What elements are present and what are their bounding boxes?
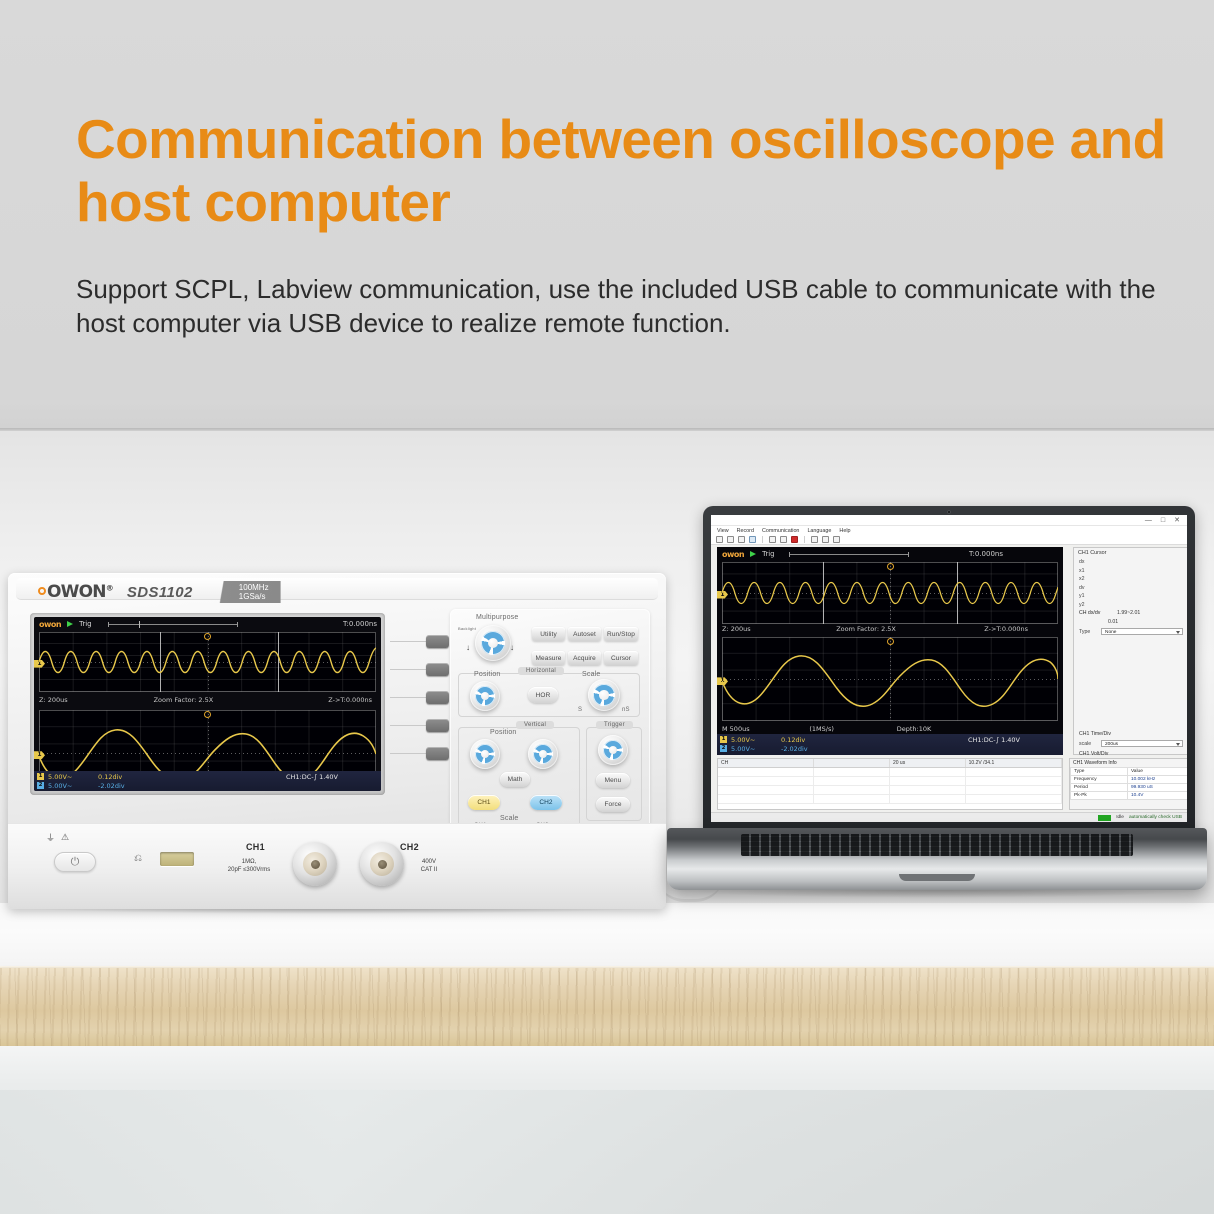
sw-status-row: M 500us (1MS/s) Depth:10K	[722, 723, 1058, 734]
sw-zoom-waveform-pane: 1	[722, 637, 1058, 721]
cursor-type-row: Type None	[1074, 626, 1187, 637]
hor-button[interactable]: HOR	[528, 687, 558, 703]
knob-inner	[475, 744, 495, 764]
sw-trigger-state: Trig	[762, 550, 775, 558]
sw-ch1-volts: 5.00V~	[731, 736, 777, 744]
wi-pkpk-value: 10.4V	[1127, 792, 1187, 800]
table-icon[interactable]	[822, 536, 829, 543]
softkey-2[interactable]	[426, 663, 449, 676]
usb-check-label: automatically check USB	[1129, 815, 1182, 820]
cursor-dxdv-label: CH dx/dv	[1079, 610, 1113, 616]
oscilloscope-front-connectors: ⏚ ⚠ ⏻ ⎌ CH1 1MΩ, 20pF ≤300Vrms CH2 400V …	[8, 823, 666, 909]
cursor-field-y2: y2	[1074, 601, 1187, 610]
measurement-col-4: 10.2V /34.1	[966, 759, 1062, 767]
connect-icon[interactable]	[749, 536, 756, 543]
play-icon[interactable]	[780, 536, 787, 543]
sw-ch1-waveform-fast	[722, 562, 1058, 624]
sw-main-waveform-pane: 1	[722, 562, 1058, 624]
horizontal-scale-label: Scale	[582, 671, 601, 678]
sw-zoom-offset: Z->T:0.000ns	[950, 625, 1058, 633]
ch2-vertical-position-knob[interactable]	[528, 739, 558, 769]
measurement-table-header: CH 20 us 10.2V /34.1	[718, 759, 1062, 768]
laptop: — □ ✕ View Record Communication Language…	[667, 506, 1207, 901]
wi-frequency-label: Frequency	[1071, 776, 1128, 784]
measurement-col-3: 20 us	[890, 759, 966, 767]
warning-triangle-icon: ⚠	[61, 832, 69, 843]
wi-col-type: Type	[1071, 768, 1128, 776]
wi-pkpk-label: Pk-Pk	[1071, 792, 1128, 800]
cursor-panel-spacer	[1074, 637, 1187, 729]
multipurpose-knob[interactable]	[475, 625, 511, 661]
cursor-key-y2: y2	[1079, 602, 1097, 608]
bnc-core	[378, 860, 387, 869]
owon-logo: owon®	[38, 582, 113, 602]
waveform-info-table: Type Value Frequency 10.002 kHz Period 9…	[1070, 767, 1187, 800]
oscilloscope-screen-bezel: owon Trig T:0.000ns 1	[30, 613, 385, 795]
sw-ch1-badge: 1	[720, 736, 727, 743]
sw-ch1-waveform-zoom	[722, 637, 1058, 721]
timediv-select[interactable]: 200us	[1101, 740, 1183, 747]
ch2-connector-label: CH2	[400, 842, 419, 852]
wi-frequency-value: 10.002 kHz	[1127, 776, 1187, 784]
oscilloscope-chassis: owon® SDS1102 100MHz 1GSa/s owon Trig T:…	[8, 573, 666, 909]
measurement-col-ch: CH	[718, 759, 814, 767]
trigger-source-info: CH1:DC-∫ 1.40V	[286, 773, 338, 781]
menu-record[interactable]: Record	[737, 528, 754, 534]
cursor-field-dx: dx	[1074, 558, 1187, 567]
cursor-button[interactable]: Cursor	[604, 651, 638, 665]
run-play-icon	[67, 621, 73, 627]
knob-inner	[603, 740, 623, 760]
autoset-button[interactable]: Autoset	[568, 627, 601, 641]
oscilloscope-screen[interactable]: owon Trig T:0.000ns 1	[34, 617, 381, 791]
cursor-field-x2: x2	[1074, 575, 1187, 584]
application-statusbar: Idle automatically check USB	[711, 812, 1187, 822]
save-icon[interactable]	[727, 536, 734, 543]
sw-trigger-info: CH1:DC-∫ 1.40V	[968, 736, 1020, 744]
softkey-4[interactable]	[426, 719, 449, 732]
zoom-factor: Zoom Factor: 2.5X	[154, 696, 269, 704]
voltage-rating: 400V	[422, 859, 436, 865]
ch2-info-line: 2 5.00V~ -2.02div	[37, 781, 378, 790]
connection-status-indicator	[1098, 815, 1111, 821]
close-button[interactable]: ✕	[1174, 517, 1180, 524]
owon-logo-registered: ®	[106, 583, 113, 592]
horizontal-position-knob[interactable]	[470, 681, 500, 711]
timediv-row: scale 200us	[1074, 738, 1187, 749]
table-row	[718, 768, 1062, 777]
run-stop-button[interactable]: Run/Stop	[604, 627, 638, 641]
ch2-bnc-connector[interactable]	[360, 842, 404, 886]
acquire-button[interactable]: Acquire	[568, 651, 601, 665]
webcam-icon	[947, 510, 951, 514]
sw-timebase-value: M 500us	[722, 725, 809, 733]
multipurpose-left-arrow-icon: ↓	[466, 643, 470, 652]
export-icon[interactable]	[833, 536, 840, 543]
ch2-volts-per-div: 5.00V~	[48, 782, 94, 790]
desk-wood-edge	[0, 968, 1214, 1046]
scale-unit-ns: nS	[622, 707, 630, 713]
cursor-type-select[interactable]: None	[1101, 628, 1183, 635]
ch1-button[interactable]: CH1	[468, 795, 500, 810]
sw-ch2-div: -2.02div	[781, 745, 833, 753]
bnc-core	[311, 860, 320, 869]
cursor-field-x1: x1	[1074, 567, 1187, 576]
force-trigger-button[interactable]: Force	[596, 797, 630, 812]
voltdiv-panel-title: CH1 Volt/Div	[1074, 749, 1187, 758]
knob-inner	[475, 686, 495, 706]
ch1-badge: 1	[37, 773, 44, 780]
laptop-keyboard[interactable]	[741, 834, 1133, 856]
wi-period-value: 99.930 uS	[1127, 784, 1187, 792]
sw-ch2-info-line: 2 5.00V~ -2.02div	[720, 744, 1060, 753]
zoom-offset: Z->T:0.000ns	[268, 696, 376, 704]
cursor-key-y1: y1	[1079, 593, 1097, 599]
softkey-1[interactable]	[426, 635, 449, 648]
cursor-dxdv-value2: 0.01	[1108, 619, 1183, 625]
sw-zoom-timebase: Z: 200us	[722, 625, 836, 633]
owon-logo-text: owon	[47, 582, 106, 602]
sw-depth-value: Depth:10K	[897, 725, 1058, 733]
zoom-timebase: Z: 200us	[39, 696, 154, 704]
horizontal-scale-knob[interactable]	[588, 679, 620, 711]
vertical-position-label: Position	[490, 729, 517, 736]
idle-state-label: Idle	[1116, 815, 1124, 820]
maximize-button[interactable]: □	[1161, 517, 1165, 524]
ch2-badge: 2	[37, 782, 44, 789]
application-menubar: View Record Communication Language Help	[711, 526, 1187, 535]
wall-seam	[0, 428, 1214, 431]
softkey-5[interactable]	[426, 747, 449, 760]
softkey-line	[390, 669, 426, 670]
sw-display-topbar: owon Trig T:0.000ns	[717, 547, 1063, 561]
multipurpose-label: Multipurpose	[476, 614, 518, 621]
measurement-table[interactable]: CH 20 us 10.2V /34.1	[717, 758, 1063, 810]
knob-inner	[593, 684, 614, 705]
trigger-group-title: Trigger	[596, 721, 633, 729]
sw-channel-row: 1 5.00V~ 0.12div CH1:DC-∫ 1.40V 2 5.00V~…	[717, 734, 1063, 755]
menu-communication[interactable]: Communication	[762, 528, 799, 534]
minimize-button[interactable]: —	[1145, 517, 1152, 524]
power-icon: ⏻	[71, 856, 80, 869]
utility-button[interactable]: Utility	[532, 627, 565, 641]
owon-pc-software-window: — □ ✕ View Record Communication Language…	[711, 515, 1187, 822]
softkey-line	[390, 753, 426, 754]
oscilloscope-spec-badge: 100MHz 1GSa/s	[213, 581, 281, 603]
waveform-info-panel: CH1 Waveform Info Type Value Frequency 1…	[1069, 758, 1187, 810]
page-headline: Communication between oscilloscope and h…	[76, 108, 1166, 234]
toolbar-separator	[804, 536, 805, 543]
table-row	[718, 795, 1062, 804]
trigger-time-value: T:0.000ns	[343, 620, 377, 628]
sw-trigger-time: T:0.000ns	[969, 550, 1003, 558]
memory-position-bar	[108, 622, 238, 627]
menu-view[interactable]: View	[717, 528, 729, 534]
cursor-type-label: Type	[1079, 629, 1097, 635]
software-scope-display[interactable]: owon Trig T:0.000ns 1	[717, 547, 1063, 755]
scale-unit-s: S	[578, 707, 582, 713]
waveform-info-title: CH1 Waveform Info	[1070, 759, 1187, 767]
capacitance-value: 20pF ≤300Vrms	[228, 867, 270, 873]
window-titlebar: — □ ✕	[711, 515, 1187, 526]
sw-ch1-info-line: 1 5.00V~ 0.12div CH1:DC-∫ 1.40V	[720, 735, 1060, 744]
ch2-offset-div: -2.02div	[98, 782, 150, 790]
sw-ch2-volts: 5.00V~	[731, 745, 777, 753]
lid-open-notch	[899, 874, 975, 881]
oscilloscope: owon® SDS1102 100MHz 1GSa/s owon Trig T:…	[8, 573, 666, 909]
impedance-value: 1MΩ,	[242, 859, 257, 865]
usb-icon: ⎌	[134, 853, 142, 864]
screen-owon-logo: owon	[39, 620, 61, 629]
ch1-connector-label: CH1	[246, 842, 265, 852]
cursor-field-dv: dv	[1074, 584, 1187, 593]
oscilloscope-branding: owon® SDS1102 100MHz 1GSa/s	[38, 581, 281, 603]
cursor-dxdv-value: 1.99~2.01	[1117, 610, 1183, 616]
cursor-field-y1: y1	[1074, 592, 1187, 601]
ch1-vertical-position-knob[interactable]	[470, 739, 500, 769]
sw-samplerate-value: (1MS/s)	[809, 725, 896, 733]
waveform-info-row-period: Period 99.930 uS	[1071, 784, 1188, 792]
table-row	[718, 777, 1062, 786]
cursor-key-x2: x2	[1079, 576, 1097, 582]
cursor-dxdv-row2: 0.01	[1074, 618, 1187, 627]
scope-zoom-info-row: Z: 200us Zoom Factor: 2.5X Z->T:0.000ns	[39, 694, 376, 706]
laptop-base	[667, 828, 1207, 890]
sw-run-play-icon	[750, 551, 756, 557]
knob-inner	[481, 631, 505, 655]
ch2-input-rating: 400V CAT II	[406, 858, 452, 874]
multipurpose-right-arrow-icon: ↓	[510, 643, 514, 652]
cursor-key-x1: x1	[1079, 568, 1097, 574]
trigger-menu-button[interactable]: Menu	[596, 773, 630, 788]
sw-zoom-factor: Zoom Factor: 2.5X	[836, 625, 950, 633]
ch2-button[interactable]: CH2	[530, 795, 562, 810]
trigger-level-knob[interactable]	[598, 735, 628, 765]
scope-main-waveform-pane: 1	[39, 632, 376, 692]
laptop-lid: — □ ✕ View Record Communication Language…	[703, 506, 1195, 836]
spec-samplerate: 1GSa/s	[239, 592, 269, 601]
usb-host-port[interactable]	[160, 852, 194, 866]
ch1-bnc-connector[interactable]	[293, 842, 337, 886]
power-button[interactable]: ⏻	[54, 852, 96, 872]
horizontal-group-title: Horizontal	[518, 667, 564, 675]
waveform-info-row-pkpk: Pk-Pk 10.4V	[1071, 792, 1188, 800]
timediv-scale-label: scale	[1079, 741, 1097, 747]
sw-ch1-div: 0.12div	[781, 736, 833, 744]
menu-help[interactable]: Help	[839, 528, 850, 534]
ch1-input-rating: 1MΩ, 20pF ≤300Vrms	[204, 858, 294, 874]
floor-panel	[0, 1090, 1214, 1214]
softkey-line	[390, 697, 426, 698]
chart-icon[interactable]	[811, 536, 818, 543]
cursor-dxdv-row: CH dx/dv 1.99~2.01	[1074, 609, 1187, 618]
ground-icon: ⏚	[46, 831, 55, 844]
bnc-inner	[370, 852, 394, 876]
side-softkey-group	[389, 635, 449, 780]
cursor-settings-panel: CH1 Cursor dx x1 x2 dv y1	[1073, 547, 1187, 755]
vertical-scale-label: Scale	[500, 815, 519, 822]
sw-ch2-badge: 2	[720, 745, 727, 752]
horizontal-position-label: Position	[474, 671, 501, 678]
page-subheadline: Support SCPL, Labview communication, use…	[76, 272, 1156, 340]
oscilloscope-model: SDS1102	[127, 584, 193, 601]
ch1-offset-div: 0.12div	[98, 773, 150, 781]
safety-icon-group: ⏚ ⚠	[46, 831, 69, 844]
softkey-line	[390, 725, 426, 726]
sw-memory-bar	[789, 552, 909, 557]
spec-bandwidth: 100MHz	[239, 583, 269, 592]
ch1-volts-per-div: 5.00V~	[48, 773, 94, 781]
scope-screen-topbar: owon Trig T:0.000ns	[34, 617, 381, 631]
cursor-panel-title: CH1 Cursor	[1074, 548, 1187, 558]
sw-zoom-info-row: Z: 200us Zoom Factor: 2.5X Z->T:0.000ns	[722, 623, 1058, 635]
table-row	[718, 786, 1062, 795]
open-icon[interactable]	[716, 536, 723, 543]
new-window-icon[interactable]	[738, 536, 745, 543]
timediv-panel-title: CH1 Time/Div	[1074, 729, 1187, 738]
refresh-icon[interactable]	[769, 536, 776, 543]
backlight-label: Backlight	[458, 626, 476, 631]
wi-period-label: Period	[1071, 784, 1128, 792]
cursor-key-dx: dx	[1079, 559, 1097, 565]
application-toolbar	[711, 535, 1187, 545]
math-button[interactable]: Math	[500, 772, 530, 787]
waveform-info-row-frequency: Frequency 10.002 kHz	[1071, 776, 1188, 784]
vertical-group-title: Vertical	[516, 721, 554, 729]
waveform-info-header: Type Value	[1071, 768, 1188, 776]
softkey-line	[390, 641, 426, 642]
knob-inner	[533, 744, 553, 764]
menu-language[interactable]: Language	[807, 528, 831, 534]
toolbar-separator	[762, 536, 763, 543]
measurement-col-2	[814, 759, 890, 767]
sw-owon-logo: owon	[722, 550, 744, 559]
scope-channel-row: 1 5.00V~ 0.12div CH1:DC-∫ 1.40V 2 5.00V~…	[34, 771, 381, 791]
cat-rating: CAT II	[421, 867, 437, 873]
owon-logo-o	[38, 587, 46, 595]
measure-button[interactable]: Measure	[532, 651, 565, 665]
record-icon[interactable]	[791, 536, 798, 543]
bnc-inner	[303, 852, 327, 876]
ch1-waveform-fast	[39, 632, 376, 692]
ch1-info-line: 1 5.00V~ 0.12div CH1:DC-∫ 1.40V	[37, 772, 378, 781]
trigger-state-label: Trig	[79, 620, 92, 628]
softkey-3[interactable]	[426, 691, 449, 704]
wi-col-value: Value	[1127, 768, 1187, 776]
cursor-key-dv: dv	[1079, 585, 1097, 591]
